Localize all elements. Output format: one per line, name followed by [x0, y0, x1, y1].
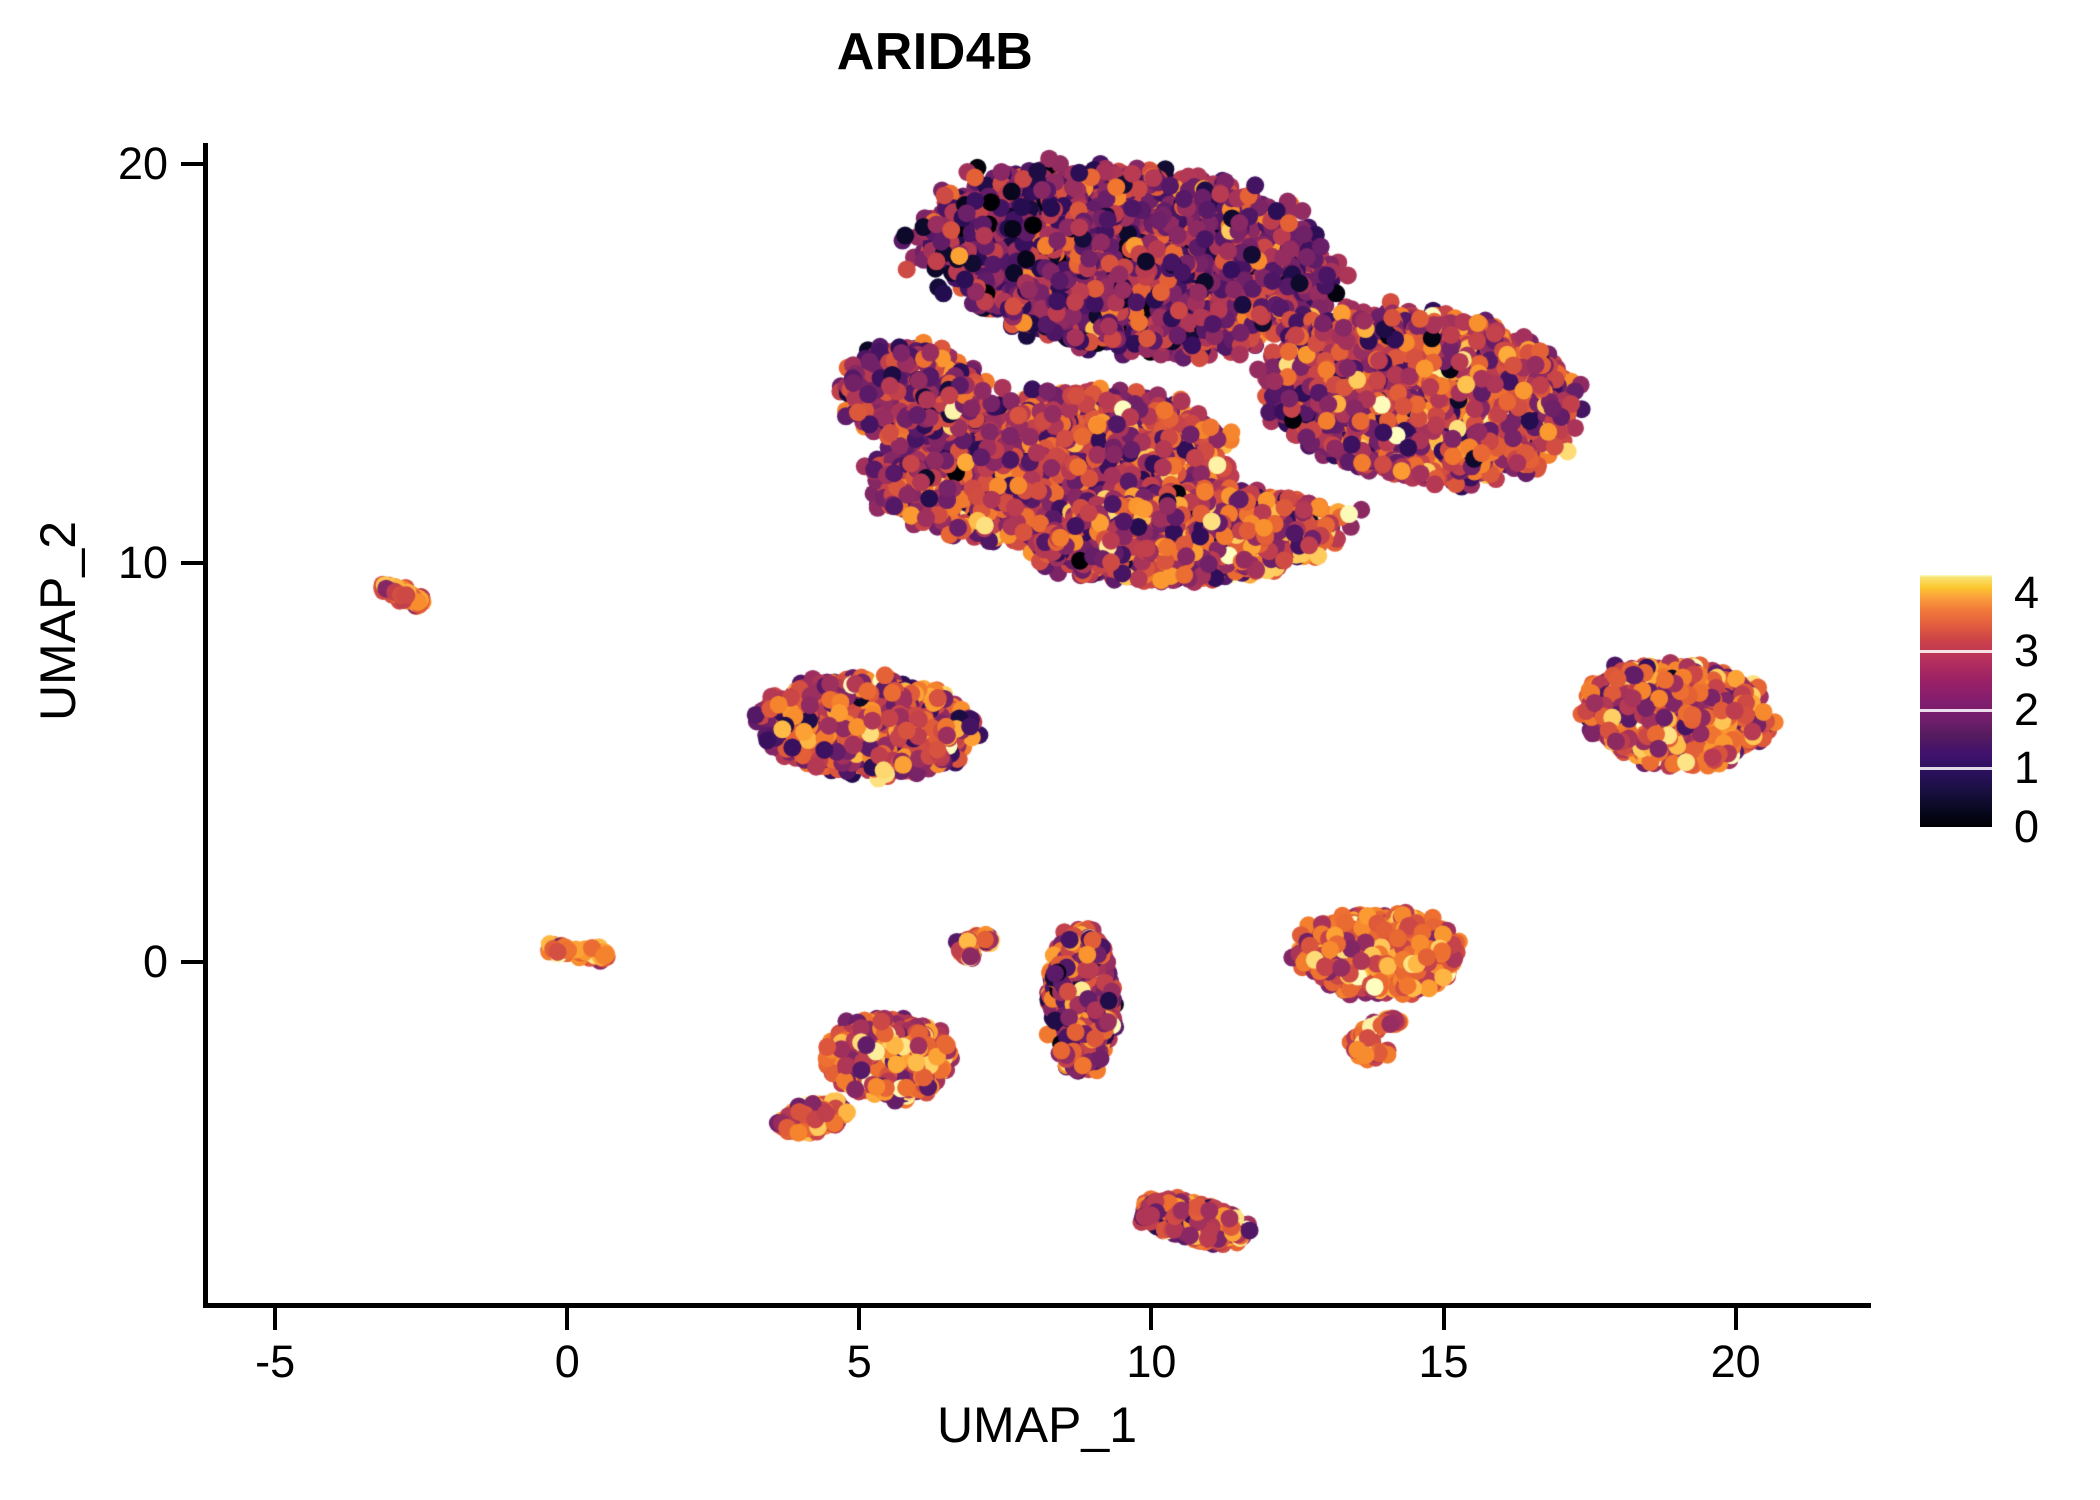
colorbar-gradient: [1920, 575, 1992, 827]
x-ticklabel-5: 5: [847, 1336, 872, 1388]
colorbar-tick-2: [1920, 709, 1992, 712]
colorbar-label-2: 2: [2014, 684, 2039, 736]
scatter-plot-canvas: [205, 100, 1870, 1305]
y-axis-line: [203, 143, 208, 1308]
colorbar-tick-1: [1920, 767, 1992, 770]
y-tick-10: [181, 561, 203, 565]
x-tick-20: [1734, 1308, 1738, 1330]
y-axis-label: UMAP_2: [29, 271, 87, 971]
x-tick-15: [1442, 1308, 1446, 1330]
y-ticklabel-20: 20: [118, 138, 168, 190]
x-ticklabel-0: 0: [555, 1336, 580, 1388]
colorbar-label-0: 0: [2014, 801, 2039, 853]
page-title: ARID4B: [0, 22, 1870, 82]
umap-feature-plot: ARID4B -505101520 01020 UMAP_1 UMAP_2 01…: [0, 0, 2100, 1500]
x-tick-10: [1149, 1308, 1153, 1330]
colorbar-tick-3: [1920, 650, 1992, 653]
plot-panel: [205, 100, 1870, 1305]
x-ticklabel--5: -5: [255, 1336, 295, 1388]
x-ticklabel-20: 20: [1711, 1336, 1761, 1388]
colorbar-label-4: 4: [2014, 567, 2039, 619]
y-tick-20: [181, 162, 203, 166]
colorbar-label-3: 3: [2014, 625, 2039, 677]
x-axis-line: [203, 1303, 1871, 1308]
x-ticklabel-15: 15: [1418, 1336, 1468, 1388]
color-legend: 01234: [1920, 575, 2080, 875]
x-tick-0: [565, 1308, 569, 1330]
x-tick--5: [273, 1308, 277, 1330]
y-ticklabel-0: 0: [143, 936, 168, 988]
x-ticklabel-10: 10: [1126, 1336, 1176, 1388]
y-ticklabel-10: 10: [118, 537, 168, 589]
x-axis-label: UMAP_1: [203, 1396, 1871, 1454]
colorbar-label-1: 1: [2014, 742, 2039, 794]
y-tick-0: [181, 960, 203, 964]
x-tick-5: [857, 1308, 861, 1330]
